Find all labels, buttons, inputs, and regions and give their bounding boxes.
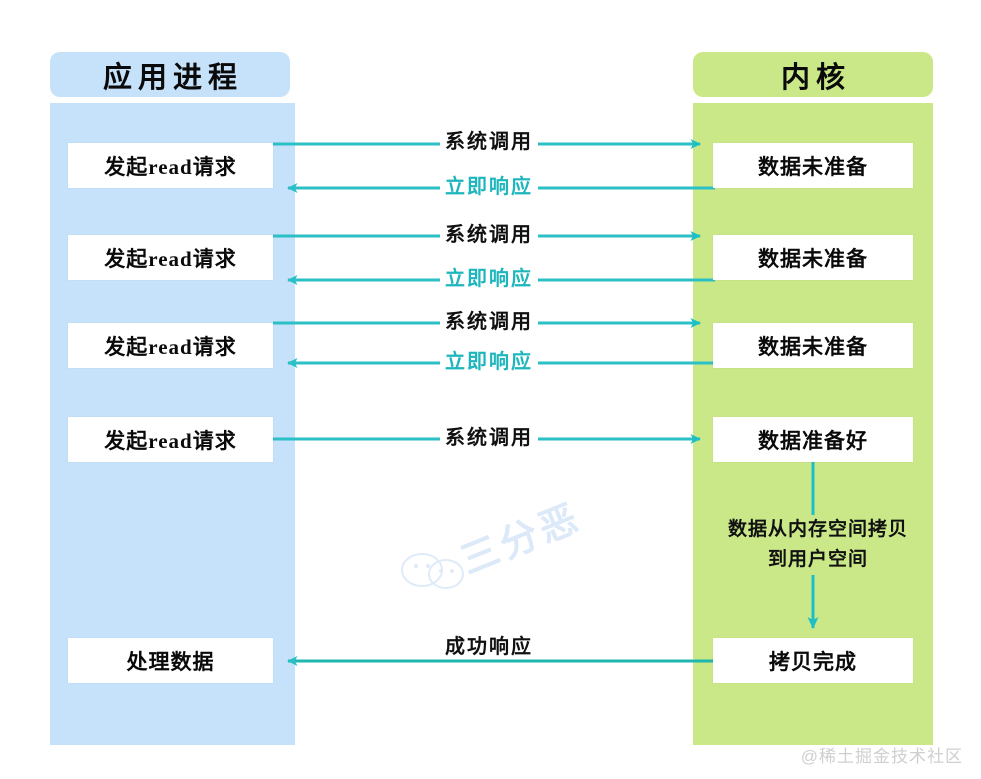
kernel-node-label: 数据未准备 <box>758 331 868 361</box>
copy-label-line-2: 到用户空间 <box>712 545 924 575</box>
kernel-node-label: 拷贝完成 <box>769 646 857 676</box>
center-watermark: 三分恶 <box>384 468 596 627</box>
kernel-node-data-not-ready-3[interactable]: 数据未准备 <box>713 323 913 368</box>
app-node-label: 处理数据 <box>127 646 215 676</box>
arrow-label-syscall-2: 系统调用 <box>440 224 538 246</box>
kernel-node-label: 数据未准备 <box>758 151 868 181</box>
kernel-node-data-not-ready-1[interactable]: 数据未准备 <box>713 143 913 188</box>
arrow-label-success-response: 成功响应 <box>440 636 538 658</box>
arrow-label-syscall-4: 系统调用 <box>440 427 538 449</box>
kernel-node-copy-done[interactable]: 拷贝完成 <box>713 638 913 683</box>
app-node-process-data[interactable]: 处理数据 <box>68 638 273 683</box>
app-node-label: 发起read请求 <box>104 331 236 361</box>
kernel-node-label: 数据未准备 <box>758 243 868 273</box>
diagram-canvas: 应用进程 内核 <box>0 0 981 779</box>
kernel-header: 内核 <box>693 52 933 97</box>
kernel-header-label: 内核 <box>775 54 851 96</box>
app-node-label: 发起read请求 <box>104 151 236 181</box>
app-node-label: 发起read请求 <box>104 425 236 455</box>
copy-label-line-1: 数据从内存空间拷贝 <box>712 515 924 545</box>
app-node-read-request-3[interactable]: 发起read请求 <box>68 323 273 368</box>
arrow-label-response-1: 立即响应 <box>440 176 538 198</box>
app-node-read-request-2[interactable]: 发起read请求 <box>68 235 273 280</box>
app-node-read-request-1[interactable]: 发起read请求 <box>68 143 273 188</box>
app-node-read-request-4[interactable]: 发起read请求 <box>68 417 273 462</box>
kernel-node-label: 数据准备好 <box>758 425 868 455</box>
arrow-label-response-3: 立即响应 <box>440 351 538 373</box>
corner-watermark: @稀土掘金技术社区 <box>801 742 963 767</box>
kernel-node-data-ready[interactable]: 数据准备好 <box>713 417 913 462</box>
arrow-label-syscall-1: 系统调用 <box>440 131 538 153</box>
arrow-label-copy-to-user-space: 数据从内存空间拷贝 到用户空间 <box>708 515 928 575</box>
app-process-header-label: 应用进程 <box>97 54 243 96</box>
arrow-label-response-2: 立即响应 <box>440 268 538 290</box>
app-process-header: 应用进程 <box>50 52 290 97</box>
kernel-node-data-not-ready-2[interactable]: 数据未准备 <box>713 235 913 280</box>
arrow-label-syscall-3: 系统调用 <box>440 311 538 333</box>
app-node-label: 发起read请求 <box>104 243 236 273</box>
